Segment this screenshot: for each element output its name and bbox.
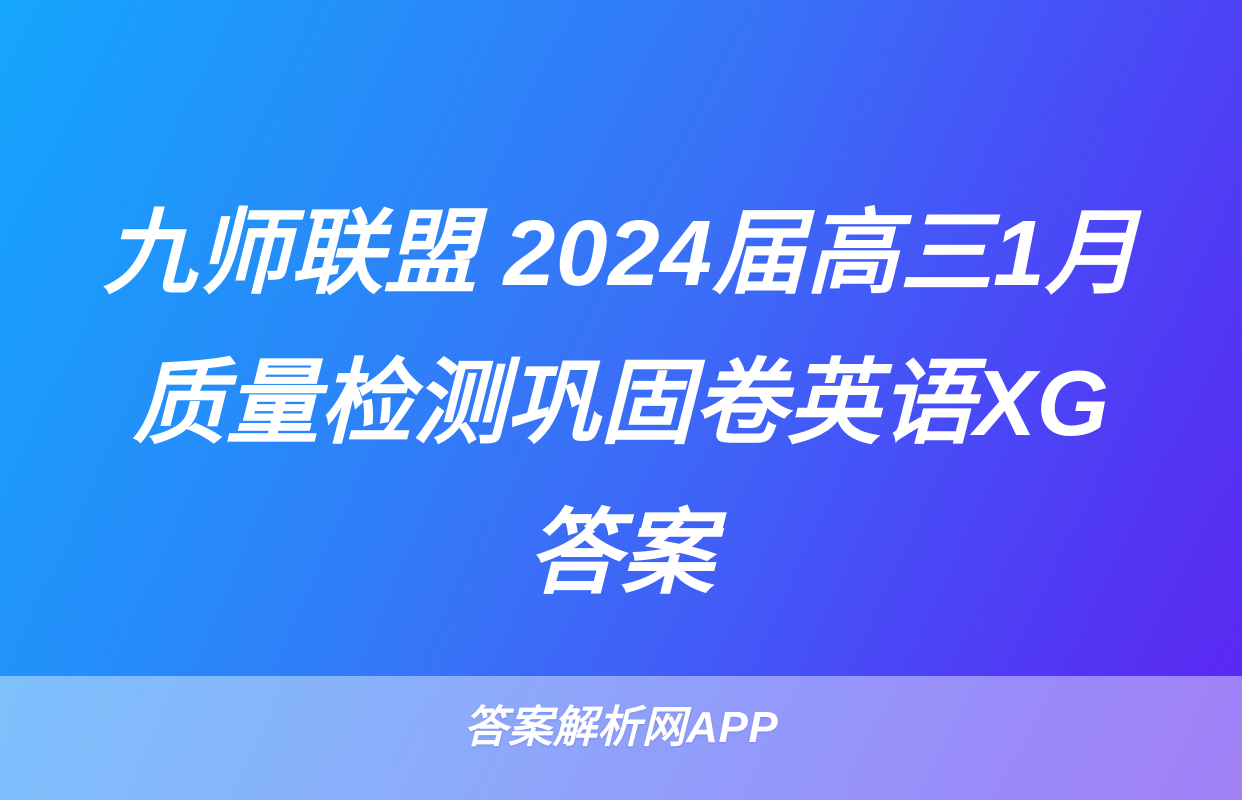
watermark-label: 答案解析网APP bbox=[0, 702, 1242, 754]
page-title: 九师联盟 2024届高三1月质量检测巩固卷英语XG答案 bbox=[96, 178, 1146, 628]
cover-title-block: 九师联盟 2024届高三1月质量检测巩固卷英语XG答案 bbox=[0, 178, 1242, 628]
cover-image: 九师联盟 2024届高三1月质量检测巩固卷英语XG答案 答案解析网APP bbox=[0, 0, 1242, 800]
